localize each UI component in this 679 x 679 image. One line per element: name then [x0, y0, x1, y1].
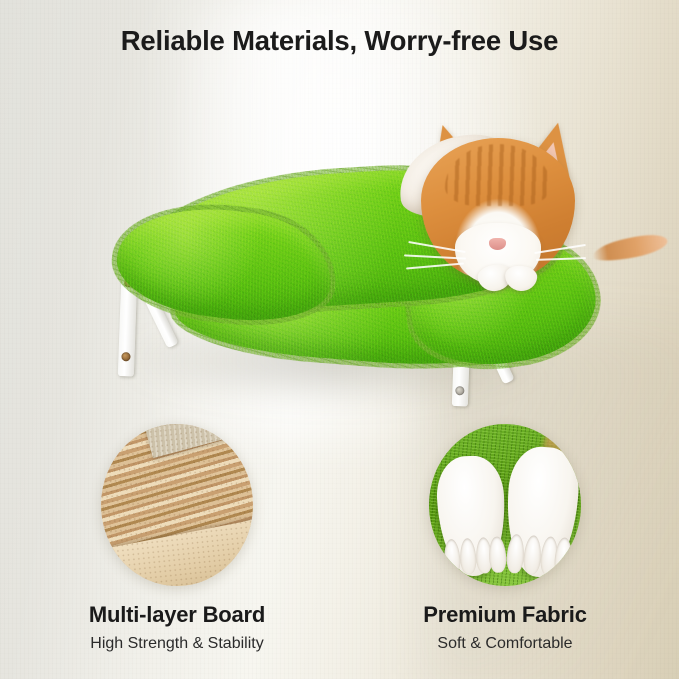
product-infographic: Reliable Materials, Worry-free Use: [0, 0, 679, 679]
plywood-speckle-texture: [101, 424, 253, 586]
cat-paws-on-fabric: [429, 424, 581, 586]
cat-tabby-stripes: [445, 144, 551, 206]
feature-row: Multi-layer Board High Strength & Stabil…: [0, 424, 679, 679]
paw-toe: [459, 538, 477, 575]
feature-subtitle: Soft & Comfortable: [340, 635, 670, 653]
paw-toe: [443, 539, 461, 576]
feature-title: Premium Fabric: [340, 602, 670, 628]
feature-image-plywood: [101, 424, 253, 586]
feature-title: Multi-layer Board: [12, 602, 342, 628]
closeup-paw-right: [502, 444, 581, 578]
cat-tail: [591, 231, 669, 265]
feature-image-paws: [429, 424, 581, 586]
closeup-paw-left: [435, 455, 508, 578]
feature-multi-layer-board: Multi-layer Board High Strength & Stabil…: [12, 424, 342, 653]
feature-premium-fabric: Premium Fabric Soft & Comfortable: [340, 424, 670, 653]
feature-subtitle: High Strength & Stability: [12, 635, 342, 653]
page-title: Reliable Materials, Worry-free Use: [0, 25, 679, 57]
plywood-layers: [101, 424, 253, 586]
product-scene: [0, 60, 679, 430]
paw-toe: [522, 534, 541, 574]
